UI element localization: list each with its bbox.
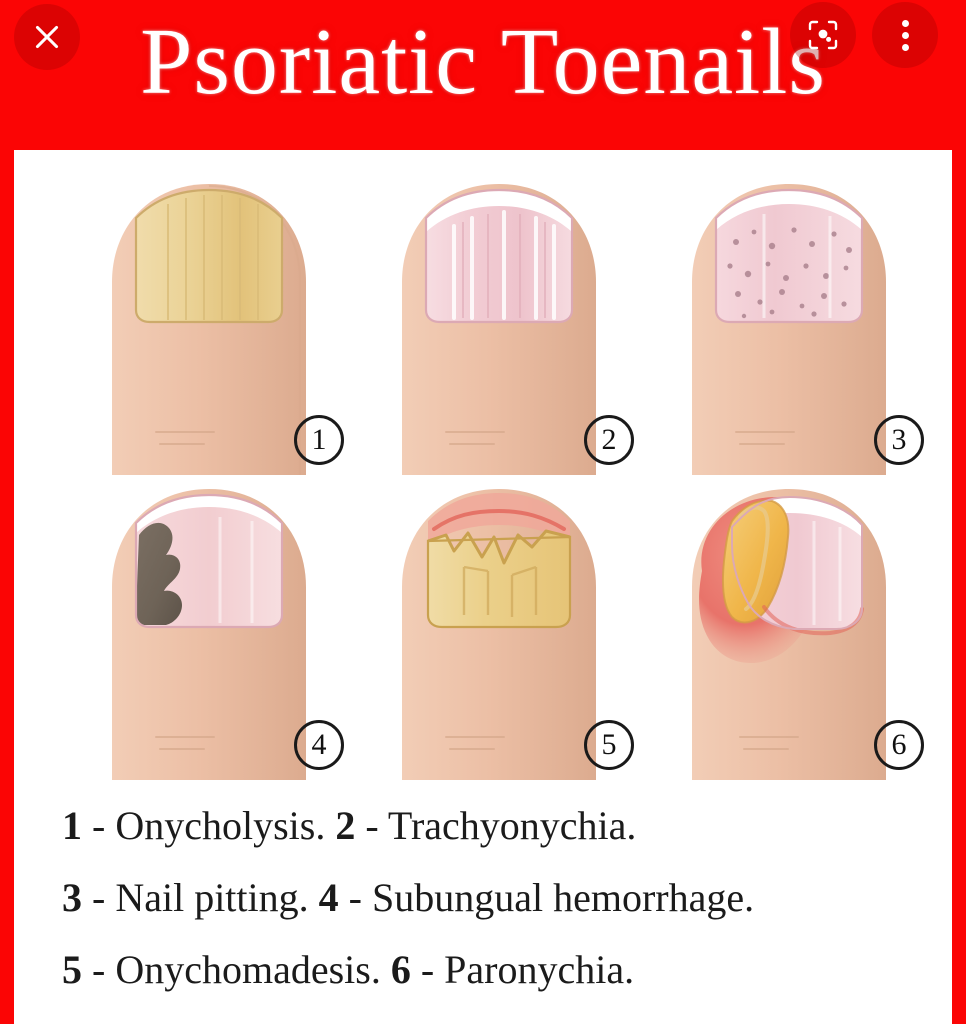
legend-text-2: - Trachyonychia. [365,803,636,848]
legend-text-5: - Onychomadesis. [92,947,381,992]
panel-badge-5: 5 [584,720,634,770]
legend-num-4: 4 [319,875,339,920]
infographic-card: 1 [0,150,966,1024]
legend-line-1: 1 - Onycholysis. 2 - Trachyonychia. [62,790,942,862]
more-options-button[interactable] [872,2,938,68]
legend-text-1: - Onycholysis. [92,803,325,848]
legend-num-1: 1 [62,803,82,848]
toenail-panel-3: 3 [644,170,934,475]
toenail-panel-1: 1 [64,170,354,475]
legend-num-6: 6 [391,947,411,992]
panel-badge-4: 4 [294,720,344,770]
legend-num-2: 2 [335,803,355,848]
legend-text-6: - Paronychia. [421,947,634,992]
toenail-panel-5: 5 [354,475,644,780]
lens-icon [806,18,840,52]
toenail-panel-6: 6 [644,475,934,780]
close-icon [32,22,62,52]
google-lens-button[interactable] [790,2,856,68]
close-button[interactable] [14,4,80,70]
image-viewer: Psoriatic Toenails [0,0,966,1024]
toenail-panel-2: 2 [354,170,644,475]
panel-badge-6: 6 [874,720,924,770]
toenail-panel-grid: 1 [54,170,934,790]
legend-text-4: - Subungual hemorrhage. [349,875,754,920]
panel-badge-3: 3 [874,415,924,465]
legend-num-5: 5 [62,947,82,992]
legend-line-2: 3 - Nail pitting. 4 - Subungual hemorrha… [62,862,942,934]
toenail-panel-4: 4 [64,475,354,780]
legend: 1 - Onycholysis. 2 - Trachyonychia. 3 - … [62,790,942,1006]
legend-text-3: - Nail pitting. [92,875,309,920]
more-vertical-icon [902,20,909,51]
legend-num-3: 3 [62,875,82,920]
legend-line-3: 5 - Onychomadesis. 6 - Paronychia. [62,934,942,1006]
panel-badge-2: 2 [584,415,634,465]
panel-badge-1: 1 [294,415,344,465]
